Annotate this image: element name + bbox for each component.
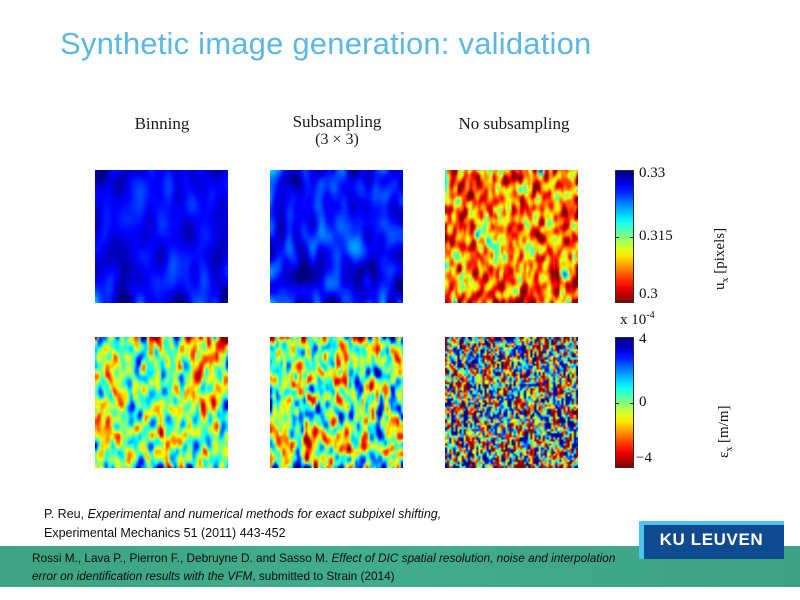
citation-secondary-source: , submitted to Strain (2014) xyxy=(252,569,394,583)
colorbar-eps xyxy=(615,337,634,468)
column-header-subsampling: Subsampling (3 × 3) xyxy=(263,112,411,149)
colorbar-eps-ticklabel-mid: 0 xyxy=(639,394,647,411)
column-header-label: Binning xyxy=(135,114,190,133)
heatmap-panel-r0c1 xyxy=(270,170,403,303)
column-header-no-subsampling: No subsampling xyxy=(436,114,592,133)
colorbar-ux-tick-mid-right xyxy=(630,237,634,238)
heatmap-panel-r1c0 xyxy=(95,337,228,468)
citation-primary-title: Experimental and numerical methods for e… xyxy=(88,507,442,521)
logo-text: KU LEUVEN xyxy=(639,521,784,559)
ku-leuven-logo: KU LEUVEN xyxy=(639,521,784,559)
colorbar-ux-ticklabel-mid: 0.315 xyxy=(639,228,673,245)
colorbar-eps-symbol: ε xyxy=(716,452,732,458)
citation-primary-author: P. Reu, xyxy=(44,507,84,521)
column-header-sublabel: (3 × 3) xyxy=(263,131,411,149)
colorbar-eps-ticklabel-min: −4 xyxy=(636,450,652,467)
slide-canvas: Synthetic image generation: validation B… xyxy=(0,0,800,600)
citation-secondary-authors: Rossi M., Lava P., Pierron F., Debruyne … xyxy=(32,551,328,565)
heatmap-panel-r1c1 xyxy=(270,337,403,468)
colorbar-eps-multiplier: x 10-4 xyxy=(620,310,655,329)
column-header-label: No subsampling xyxy=(459,114,570,133)
colorbar-ux-symbol: u xyxy=(712,283,728,291)
colorbar-eps-tick-mid-right xyxy=(630,403,634,404)
colorbar-ux-ticklabel-max: 0.33 xyxy=(639,165,665,182)
column-header-label: Subsampling xyxy=(293,112,382,131)
heatmap-panel-r1c2 xyxy=(445,337,578,468)
colorbar-eps-ticklabel-max: 4 xyxy=(639,331,647,348)
page-title: Synthetic image generation: validation xyxy=(60,26,760,62)
colorbar-ux-ticklabel-min: 0.3 xyxy=(639,286,658,303)
citation-primary-source: Experimental Mechanics 51 (2011) 443-452 xyxy=(44,526,286,540)
colorbar-eps-multiplier-exponent: -4 xyxy=(646,310,654,321)
colorbar-eps-tick-mid xyxy=(615,403,619,404)
colorbar-ux-subscript: x xyxy=(720,278,731,283)
heatmap-panel-r0c0 xyxy=(95,170,228,303)
colorbar-eps-axis-label: εx [m/m] xyxy=(716,405,735,458)
citation-secondary: Rossi M., Lava P., Pierron F., Debruyne … xyxy=(32,549,632,586)
heatmap-panel-r0c2 xyxy=(445,170,578,303)
column-header-binning: Binning xyxy=(95,114,229,133)
colorbar-eps-units: [m/m] xyxy=(716,405,732,443)
colorbar-ux-tick-mid xyxy=(615,237,619,238)
colorbar-ux-axis-label: ux [pixels] xyxy=(712,228,731,290)
citation-primary: P. Reu, Experimental and numerical metho… xyxy=(44,505,564,543)
colorbar-ux xyxy=(615,170,634,303)
colorbar-eps-subscript: x xyxy=(724,447,735,452)
colorbar-ux-units: [pixels] xyxy=(712,228,728,274)
colorbar-eps-multiplier-base: x 10 xyxy=(620,312,646,328)
